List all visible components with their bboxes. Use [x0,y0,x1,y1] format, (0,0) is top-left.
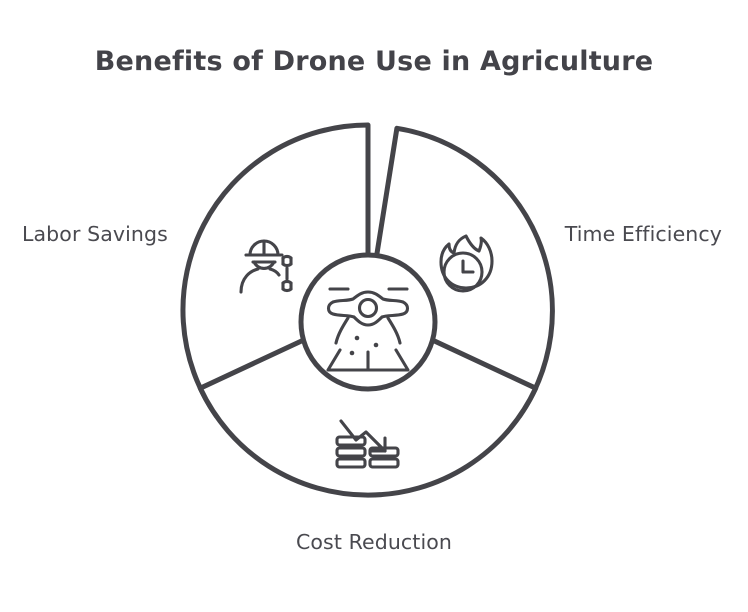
label-labor-savings: Labor Savings [22,222,168,246]
radial-diagram [0,0,748,612]
label-cost-reduction: Cost Reduction [0,530,748,554]
diagram-canvas: Benefits of Drone Use in Agriculture [0,0,748,612]
label-time-efficiency: Time Efficiency [565,222,722,246]
